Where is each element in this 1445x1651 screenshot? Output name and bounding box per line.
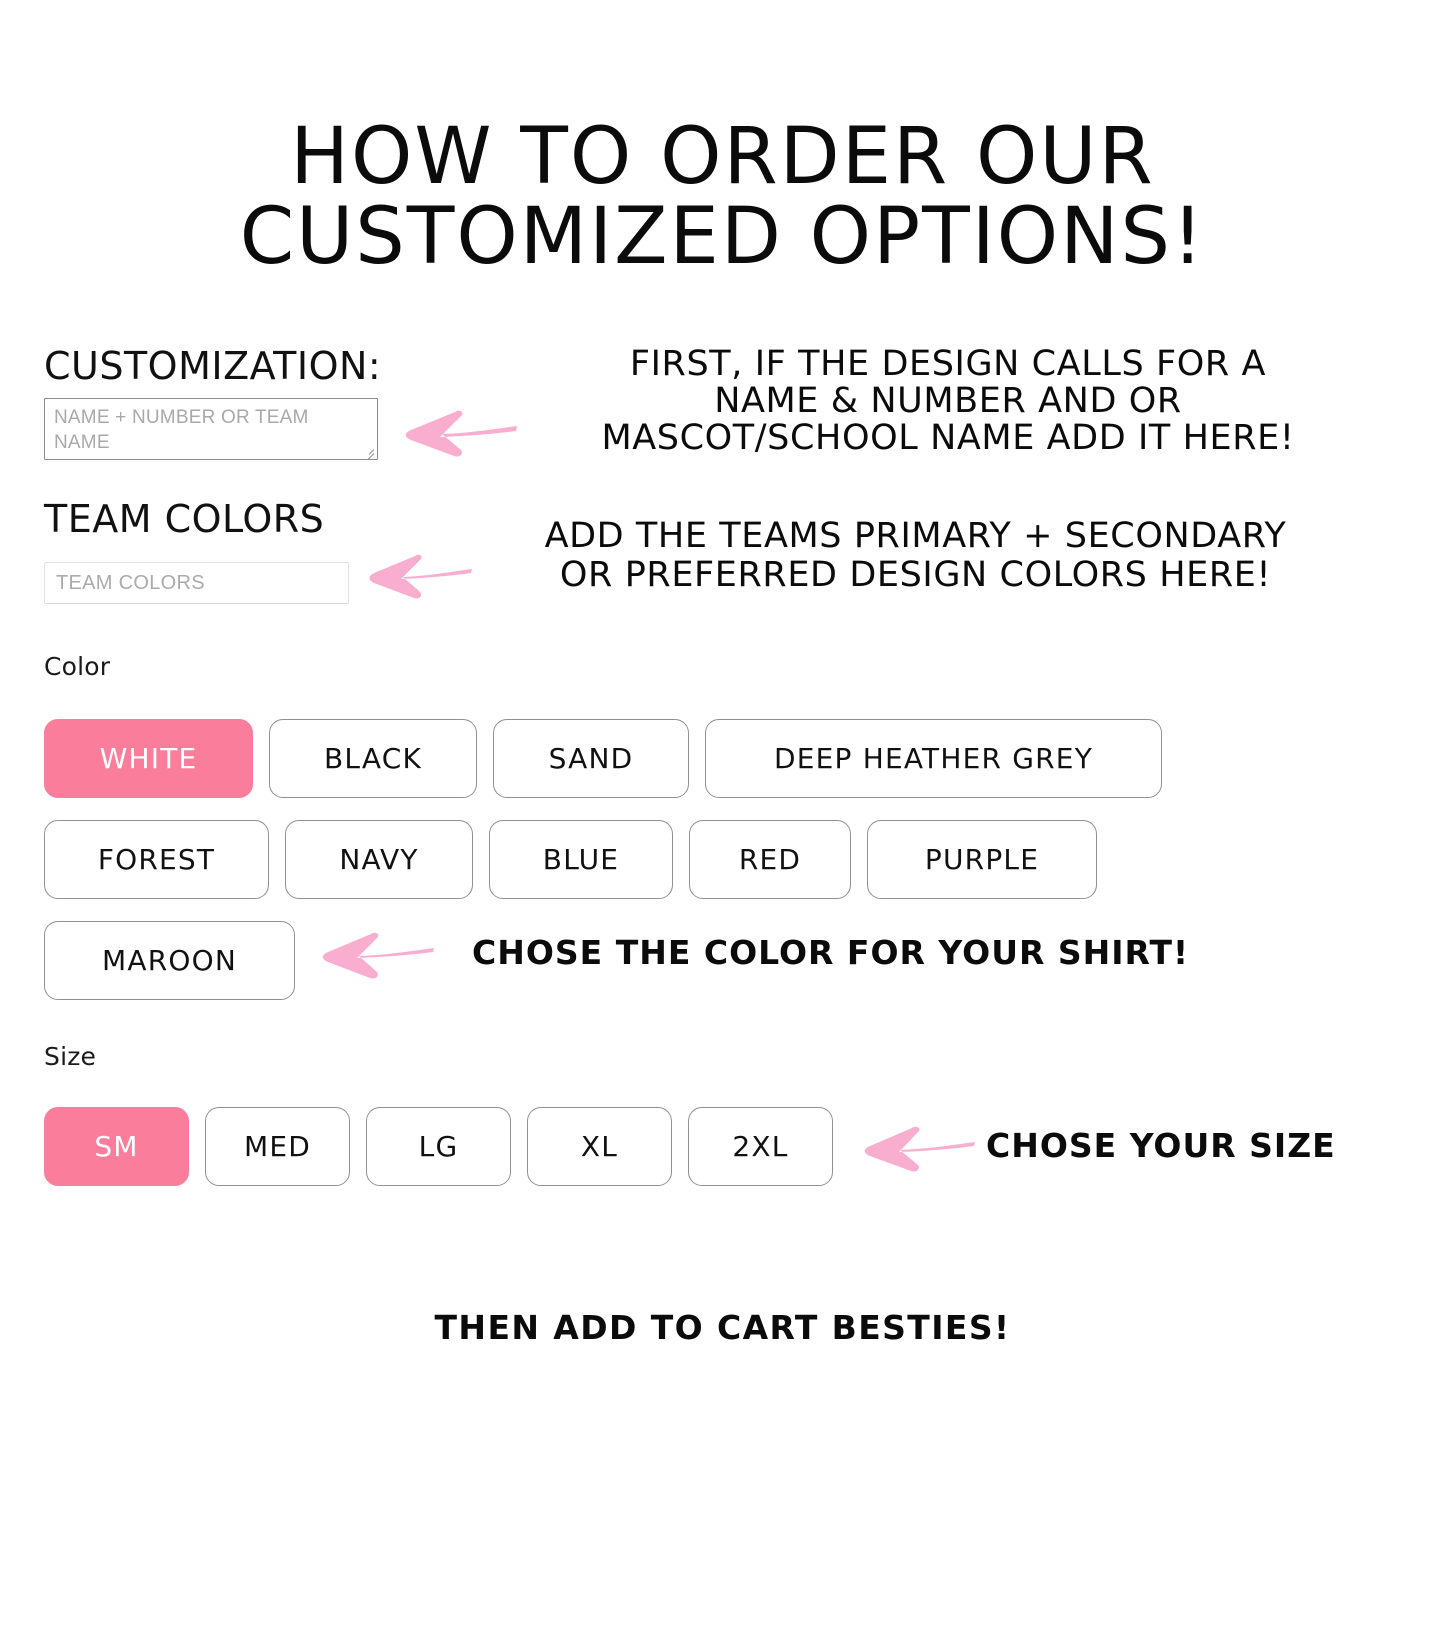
size-option-row: SM MED LG XL 2XL: [44, 1107, 833, 1186]
team-colors-placeholder: TEAM COLORS: [56, 572, 205, 595]
annotation-shirt-color: CHOSE THE COLOR FOR YOUR SHIRT!: [472, 933, 1189, 972]
size-option-lg[interactable]: LG: [366, 1107, 511, 1186]
color-option-maroon[interactable]: MAROON: [44, 921, 295, 1000]
color-option-deep-heather-grey[interactable]: DEEP HEATHER GREY: [705, 719, 1162, 798]
resize-grip-icon[interactable]: [361, 443, 375, 457]
color-group-label: Color: [44, 652, 110, 681]
customization-label: CUSTOMIZATION:: [44, 344, 381, 388]
page-root: HOW TO ORDER OUR CUSTOMIZED OPTIONS! CUS…: [0, 0, 1445, 1651]
arrow-left-icon: [315, 926, 435, 987]
arrow-left-icon: [363, 549, 473, 606]
color-option-red[interactable]: RED: [689, 820, 851, 899]
color-option-navy[interactable]: NAVY: [285, 820, 473, 899]
team-colors-label: TEAM COLORS: [44, 497, 324, 541]
annotation-team-colors: ADD THE TEAMS PRIMARY + SECONDARY OR PRE…: [478, 517, 1353, 595]
color-option-row: WHITE BLACK SAND DEEP HEATHER GREY: [44, 719, 1162, 798]
size-option-med[interactable]: MED: [205, 1107, 350, 1186]
size-option-2xl[interactable]: 2XL: [688, 1107, 833, 1186]
arrow-left-icon: [858, 1120, 976, 1179]
customization-textarea[interactable]: NAME + NUMBER OR TEAM NAME: [44, 398, 378, 460]
color-option-sand[interactable]: SAND: [493, 719, 689, 798]
annotation-size: CHOSE YOUR SIZE: [986, 1126, 1336, 1165]
team-colors-input[interactable]: TEAM COLORS: [44, 562, 349, 604]
color-option-black[interactable]: BLACK: [269, 719, 477, 798]
size-group-label: Size: [44, 1042, 96, 1071]
annotation-customization: FIRST, IF THE DESIGN CALLS FOR A NAME & …: [548, 346, 1348, 457]
page-title: HOW TO ORDER OUR CUSTOMIZED OPTIONS!: [0, 118, 1445, 277]
color-option-forest[interactable]: FOREST: [44, 820, 269, 899]
color-option-blue[interactable]: BLUE: [489, 820, 673, 899]
arrow-left-icon: [398, 403, 518, 464]
annotation-add-to-cart: THEN ADD TO CART BESTIES!: [0, 1308, 1445, 1347]
color-option-row: MAROON: [44, 921, 295, 1000]
size-option-xl[interactable]: XL: [527, 1107, 672, 1186]
customization-placeholder: NAME + NUMBER OR TEAM NAME: [54, 405, 367, 455]
color-option-purple[interactable]: PURPLE: [867, 820, 1097, 899]
size-option-sm[interactable]: SM: [44, 1107, 189, 1186]
color-option-white[interactable]: WHITE: [44, 719, 253, 798]
color-option-row: FOREST NAVY BLUE RED PURPLE: [44, 820, 1097, 899]
